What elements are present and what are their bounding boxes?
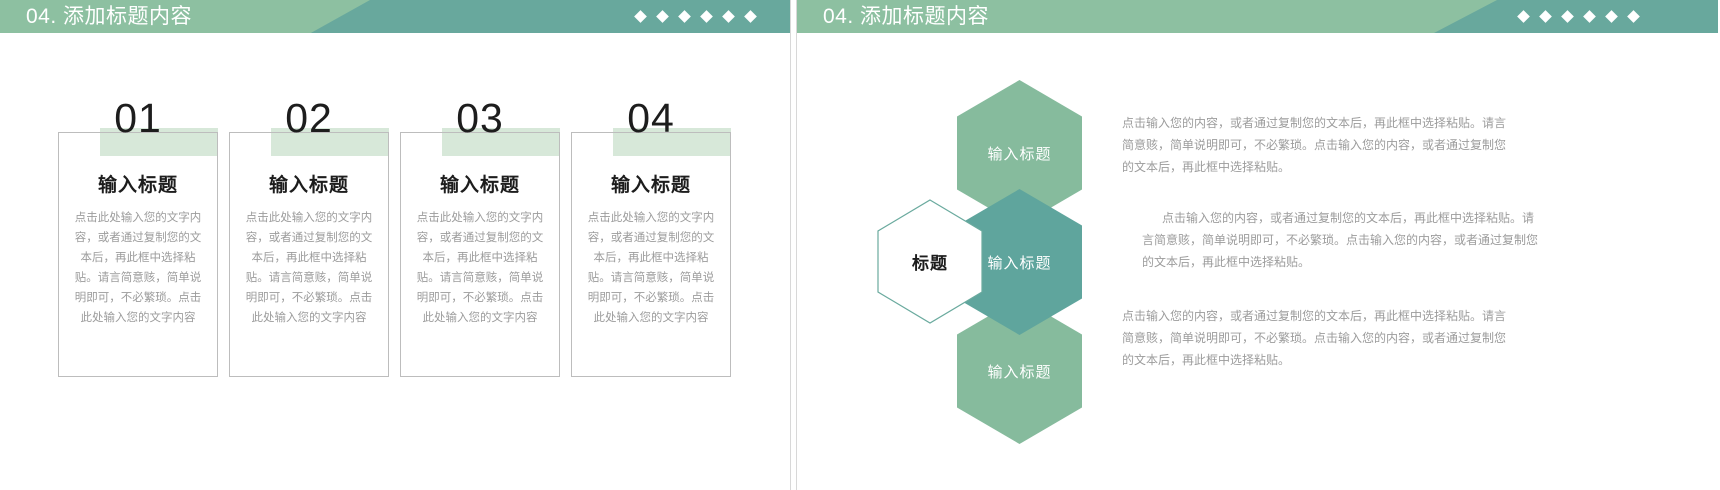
diamond-icon — [1605, 10, 1618, 23]
diamond-icon — [744, 10, 757, 23]
card-body-text: 点击此处输入您的文字内容，或者通过复制您的文本后，再此框中选择粘贴。请言简意赅，… — [587, 208, 715, 328]
slide-separator — [790, 0, 797, 490]
diamond-icon — [722, 10, 735, 23]
number-card[interactable]: 04 输入标题 点击此处输入您的文字内容，或者通过复制您的文本后，再此框中选择粘… — [571, 92, 731, 377]
hexagon-bottom-label: 输入标题 — [987, 361, 1051, 382]
slide-left-header-bar: 04. 添加标题内容 — [0, 0, 790, 33]
diamond-icon — [1539, 10, 1552, 23]
hexagon-top-label: 输入标题 — [987, 143, 1051, 164]
card-title: 输入标题 — [58, 170, 218, 197]
diamond-icon — [700, 10, 713, 23]
diamond-icon — [634, 10, 647, 23]
card-body-text: 点击此处输入您的文字内容，或者通过复制您的文本后，再此框中选择粘贴。请言简意赅，… — [74, 208, 202, 328]
diamond-icon — [1627, 10, 1640, 23]
slide-left-title: 04. 添加标题内容 — [26, 0, 192, 33]
diamond-icon — [1561, 10, 1574, 23]
card-title: 输入标题 — [571, 170, 731, 197]
paragraph-1: 点击输入您的内容，或者通过复制您的文本后，再此框中选择粘贴。请言简意赅，简单说明… — [1122, 112, 1514, 178]
card-number: 04 — [571, 92, 731, 144]
diamond-icon — [1517, 10, 1530, 23]
slide-left-diamond-row — [636, 0, 755, 33]
hexagon-outline[interactable]: 标题 — [877, 199, 983, 324]
number-card[interactable]: 03 输入标题 点击此处输入您的文字内容，或者通过复制您的文本后，再此框中选择粘… — [400, 92, 560, 377]
number-card[interactable]: 01 输入标题 点击此处输入您的文字内容，或者通过复制您的文本后，再此框中选择粘… — [58, 92, 218, 377]
hexagon-outline-label: 标题 — [877, 199, 983, 324]
slide-right-header-bar: 04. 添加标题内容 — [797, 0, 1718, 33]
card-number: 02 — [229, 92, 389, 144]
paragraph-3: 点击输入您的内容，或者通过复制您的文本后，再此框中选择粘贴。请言简意赅，简单说明… — [1122, 305, 1514, 371]
diamond-icon — [678, 10, 691, 23]
card-body-text: 点击此处输入您的文字内容，或者通过复制您的文本后，再此框中选择粘贴。请言简意赅，… — [245, 208, 373, 328]
slide-right-title: 04. 添加标题内容 — [823, 0, 989, 33]
paragraph-2: 点击输入您的内容，或者通过复制您的文本后，再此框中选择粘贴。请言简意赅，简单说明… — [1142, 207, 1538, 273]
diamond-icon — [1583, 10, 1596, 23]
hexagon-middle-label: 输入标题 — [987, 252, 1051, 273]
card-title: 输入标题 — [229, 170, 389, 197]
hexagon-diagram: 输入标题 输入标题 输入标题 标题 — [895, 80, 1125, 390]
card-number: 01 — [58, 92, 218, 144]
number-card[interactable]: 02 输入标题 点击此处输入您的文字内容，或者通过复制您的文本后，再此框中选择粘… — [229, 92, 389, 377]
slide-deck: 04. 添加标题内容 01 输入标题 点击此处输入您的文字内容，或者通过复制您的… — [0, 0, 1720, 490]
diamond-icon — [656, 10, 669, 23]
card-title: 输入标题 — [400, 170, 560, 197]
card-number: 03 — [400, 92, 560, 144]
card-body-text: 点击此处输入您的文字内容，或者通过复制您的文本后，再此框中选择粘贴。请言简意赅，… — [416, 208, 544, 328]
slide-left: 04. 添加标题内容 01 输入标题 点击此处输入您的文字内容，或者通过复制您的… — [0, 0, 790, 490]
number-card-list: 01 输入标题 点击此处输入您的文字内容，或者通过复制您的文本后，再此框中选择粘… — [58, 92, 731, 377]
slide-right-diamond-row — [1519, 0, 1638, 33]
